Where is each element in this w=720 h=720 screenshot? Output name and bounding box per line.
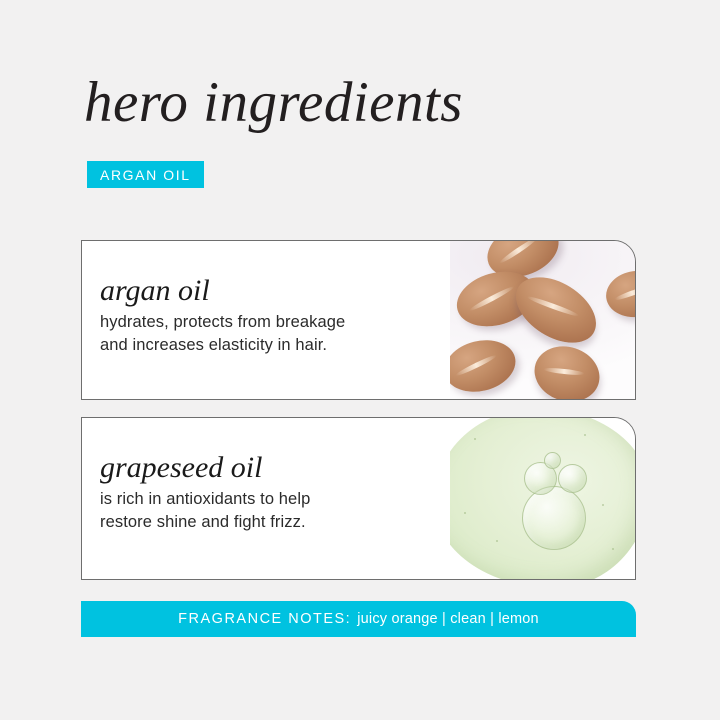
ingredient-card-argan-oil: argan oil hydrates, protects from breaka… [81,240,636,400]
status-badge-argan-oil: ARGAN OIL [87,161,204,188]
card-description: is rich in antioxidants to help restore … [100,488,310,536]
oil-speck [464,512,466,514]
oil-speck [612,548,614,550]
card-text-block: grapeseed oil is rich in antioxidants to… [100,452,310,535]
fragrance-notes-value: juicy orange | clean | lemon [357,611,539,627]
oil-speck [602,504,604,506]
oil-bubble [544,452,561,469]
grapeseed-oil-droplet-photo [450,418,635,579]
argan-nut [603,267,635,321]
ingredient-card-grapeseed-oil: grapeseed oil is rich in antioxidants to… [81,417,636,580]
argan-nut [527,338,606,399]
oil-bubble [522,486,586,550]
badge-label: ARGAN OIL [100,167,191,183]
oil-speck [496,540,498,542]
oil-droplet [450,418,635,579]
oil-speck [584,434,586,436]
fragrance-notes-label: FRAGRANCE NOTES: [178,611,351,627]
card-description: hydrates, protects from breakage and inc… [100,311,345,359]
oil-bubble [558,464,587,493]
oil-speck [474,438,476,440]
card-text-block: argan oil hydrates, protects from breaka… [100,275,345,358]
card-heading: argan oil [100,275,345,307]
argan-nuts-photo [450,241,635,399]
fragrance-notes-bar: FRAGRANCE NOTES: juicy orange | clean | … [81,601,636,637]
card-heading: grapeseed oil [100,452,310,484]
page-title: hero ingredients [84,74,463,131]
argan-nut [450,333,521,399]
